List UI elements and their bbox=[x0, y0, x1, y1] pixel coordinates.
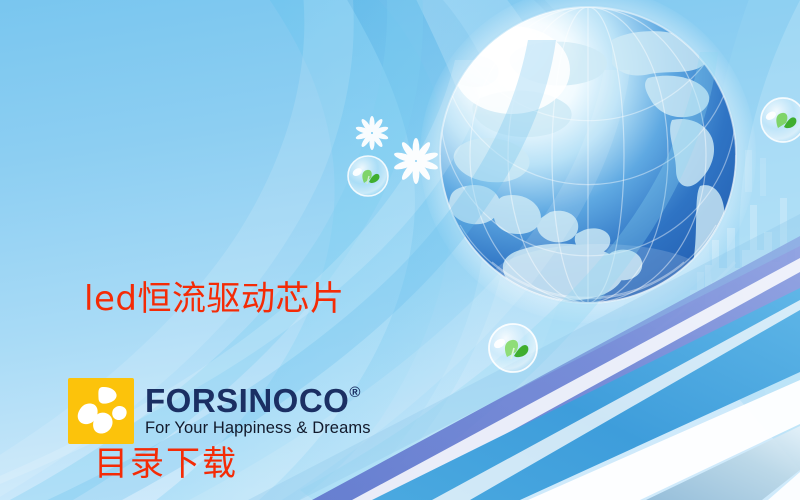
logo-name-text: FORSINOCO bbox=[145, 384, 349, 417]
logo-wordmark: FORSINOCO ® For Your Happiness & Dreams bbox=[145, 384, 371, 438]
bubble-lower-center bbox=[489, 324, 537, 372]
registered-trademark-icon: ® bbox=[349, 385, 361, 400]
logo-tagline: For Your Happiness & Dreams bbox=[145, 418, 371, 438]
logo-company-name: FORSINOCO ® bbox=[145, 384, 371, 417]
headline-line-1: led恒流驱动芯片 bbox=[84, 272, 344, 327]
company-logo: FORSINOCO ® For Your Happiness & Dreams bbox=[68, 378, 371, 444]
banner-canvas: led恒流驱动芯片 目录下载 FORSINOCO ® For Your Happ… bbox=[0, 0, 800, 500]
bubble-right-edge bbox=[761, 98, 800, 142]
bubble-upper-left bbox=[348, 156, 388, 196]
headline-line-2: 目录下载 bbox=[84, 437, 344, 492]
logo-mark-icon bbox=[68, 378, 134, 444]
headline-text: led恒流驱动芯片 目录下载 bbox=[84, 162, 344, 500]
